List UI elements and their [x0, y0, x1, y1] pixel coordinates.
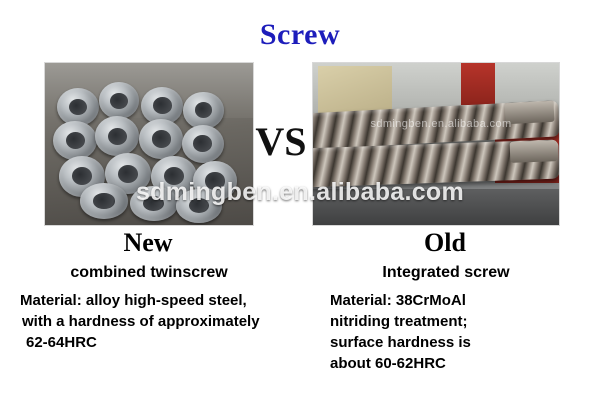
right-material-line: about 60-62HRC	[330, 353, 580, 374]
left-column-heading: New	[44, 228, 252, 258]
right-photo-floor	[313, 189, 559, 225]
left-column-subtitle: combined twinscrew	[18, 264, 280, 282]
right-material-line: Material: 38CrMoAl	[330, 290, 580, 311]
right-column-subtitle: Integrated screw	[332, 264, 560, 282]
right-product-photo	[312, 62, 560, 226]
screw-element-cluster	[53, 82, 244, 218]
left-material-line: Material: alloy high-speed steel,	[20, 290, 302, 311]
left-product-photo	[44, 62, 254, 226]
right-material-description: Material: 38CrMoAl nitriding treatment; …	[330, 290, 580, 374]
screw-shaft-tip-upper	[504, 101, 554, 125]
right-photo-red-machine-top	[461, 63, 495, 105]
left-material-line: 62-64HRC	[20, 332, 302, 353]
left-material-description: Material: alloy high-speed steel, with a…	[20, 290, 302, 353]
right-material-line: nitriding treatment;	[330, 311, 580, 332]
screw-comparison-image: Screw s	[0, 0, 600, 400]
right-column-heading: Old	[370, 228, 520, 258]
right-material-line: surface hardness is	[330, 332, 580, 353]
vs-label: VS	[236, 118, 326, 165]
page-title: Screw	[0, 18, 600, 52]
left-material-line: with a hardness of approximately	[20, 311, 302, 332]
screw-shaft-tip-lower	[509, 140, 556, 163]
